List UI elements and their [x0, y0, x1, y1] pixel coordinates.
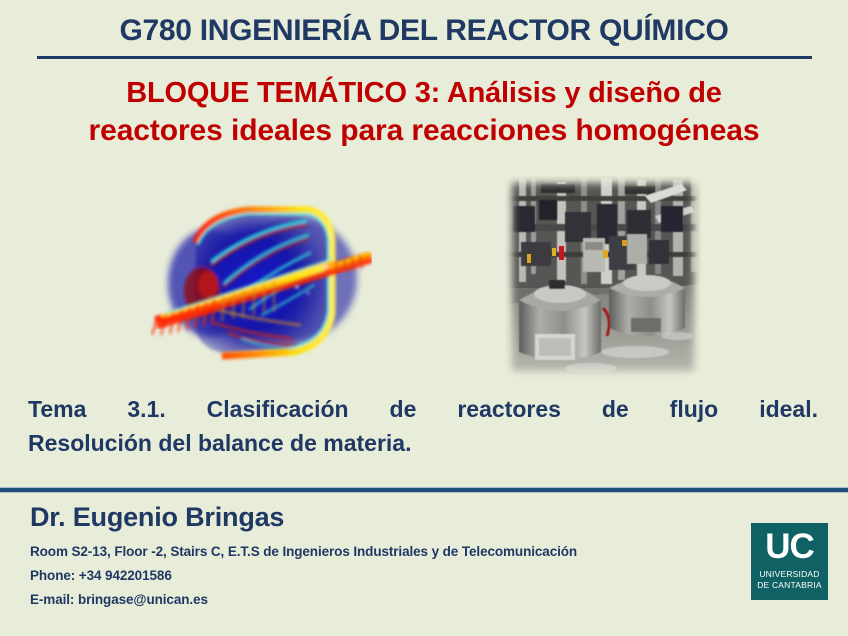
uc-logo-name-line-2: DE CANTABRIA: [751, 580, 828, 591]
industrial-reactor-photo-image: [505, 176, 701, 378]
uc-monogram: UC: [751, 528, 828, 566]
topic-line-1: Tema 3.1. Clasificación de reactores de …: [28, 392, 818, 426]
contact-email[interactable]: E-mail: bringase@unican.es: [30, 588, 730, 612]
topic-line-2: Resolución del balance de materia.: [28, 426, 818, 460]
contact-lines: Room S2-13, Floor -2, Stairs C, E.T.S de…: [30, 540, 730, 612]
university-of-cantabria-logo: UC UNIVERSIDAD DE CANTABRIA: [751, 523, 828, 600]
uc-logo-name: UNIVERSIDAD DE CANTABRIA: [751, 569, 828, 591]
cfd-reactor-simulation-image: [150, 183, 372, 375]
slide-canvas: G780 INGENIERÍA DEL REACTOR QUÍMICO BLOQ…: [0, 0, 848, 636]
contact-address: Room S2-13, Floor -2, Stairs C, E.T.S de…: [30, 540, 730, 564]
lecturer-name: Dr. Eugenio Bringas: [30, 500, 730, 534]
uc-logo-name-line-1: UNIVERSIDAD: [751, 569, 828, 580]
footer: Dr. Eugenio Bringas Room S2-13, Floor -2…: [30, 500, 730, 612]
block-heading-line-1: BLOQUE TEMÁTICO 3: Análisis y diseño de: [8, 74, 840, 112]
page-title: G780 INGENIERÍA DEL REACTOR QUÍMICO: [0, 14, 848, 48]
topic-text: Tema 3.1. Clasificación de reactores de …: [28, 392, 818, 460]
contact-phone: Phone: +34 942201586: [30, 564, 730, 588]
title-underline: [37, 56, 812, 59]
block-heading-line-2: reactores ideales para reacciones homogé…: [8, 112, 840, 150]
footer-divider: [0, 487, 848, 493]
block-heading: BLOQUE TEMÁTICO 3: Análisis y diseño de …: [8, 74, 840, 150]
